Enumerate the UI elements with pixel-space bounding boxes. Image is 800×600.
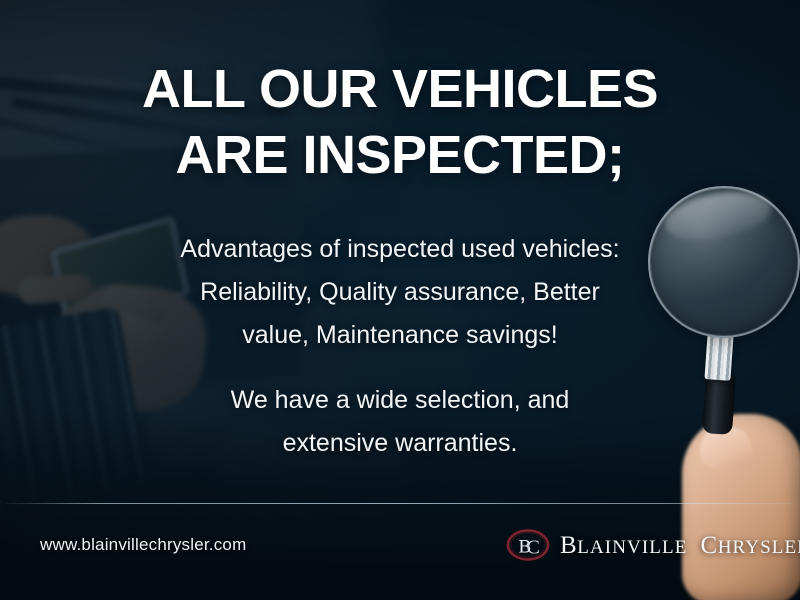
headline-line-1: ALL OUR VEHICLES xyxy=(0,56,800,122)
banner-content: ALL OUR VEHICLES ARE INSPECTED; Advantag… xyxy=(0,0,800,600)
dealership-logo[interactable]: B C BLAINVILLE CHRYSLER xyxy=(506,528,800,562)
headline: ALL OUR VEHICLES ARE INSPECTED; xyxy=(0,56,800,189)
body-paragraph-1: Advantages of inspected used vehicles: R… xyxy=(0,228,800,357)
body-line: value, Maintenance savings! xyxy=(0,314,800,357)
bc-monogram-icon: B C xyxy=(506,528,550,562)
website-url-link[interactable]: www.blainvillechrysler.com xyxy=(40,535,246,555)
logo-word-rest: HRYSLER xyxy=(718,537,800,558)
headline-line-2: ARE INSPECTED; xyxy=(0,122,800,188)
body-copy: Advantages of inspected used vehicles: R… xyxy=(0,228,800,465)
footer-divider xyxy=(6,503,794,504)
body-line: extensive warranties. xyxy=(0,422,800,465)
svg-text:C: C xyxy=(527,537,540,559)
logo-initial-cap: B xyxy=(560,532,577,559)
body-line: We have a wide selection, and xyxy=(0,379,800,422)
logo-wordmark: BLAINVILLE CHRYSLER xyxy=(560,533,800,558)
promo-banner: ALL OUR VEHICLES ARE INSPECTED; Advantag… xyxy=(0,0,800,600)
body-line: Reliability, Quality assurance, Better xyxy=(0,271,800,314)
logo-word-blainville: BLAINVILLE xyxy=(560,533,687,558)
logo-word-chrysler: CHRYSLER xyxy=(700,533,800,558)
body-line: Advantages of inspected used vehicles: xyxy=(0,228,800,271)
logo-word-rest: LAINVILLE xyxy=(577,537,687,558)
logo-initial-cap: C xyxy=(700,532,717,559)
body-paragraph-2: We have a wide selection, and extensive … xyxy=(0,379,800,465)
